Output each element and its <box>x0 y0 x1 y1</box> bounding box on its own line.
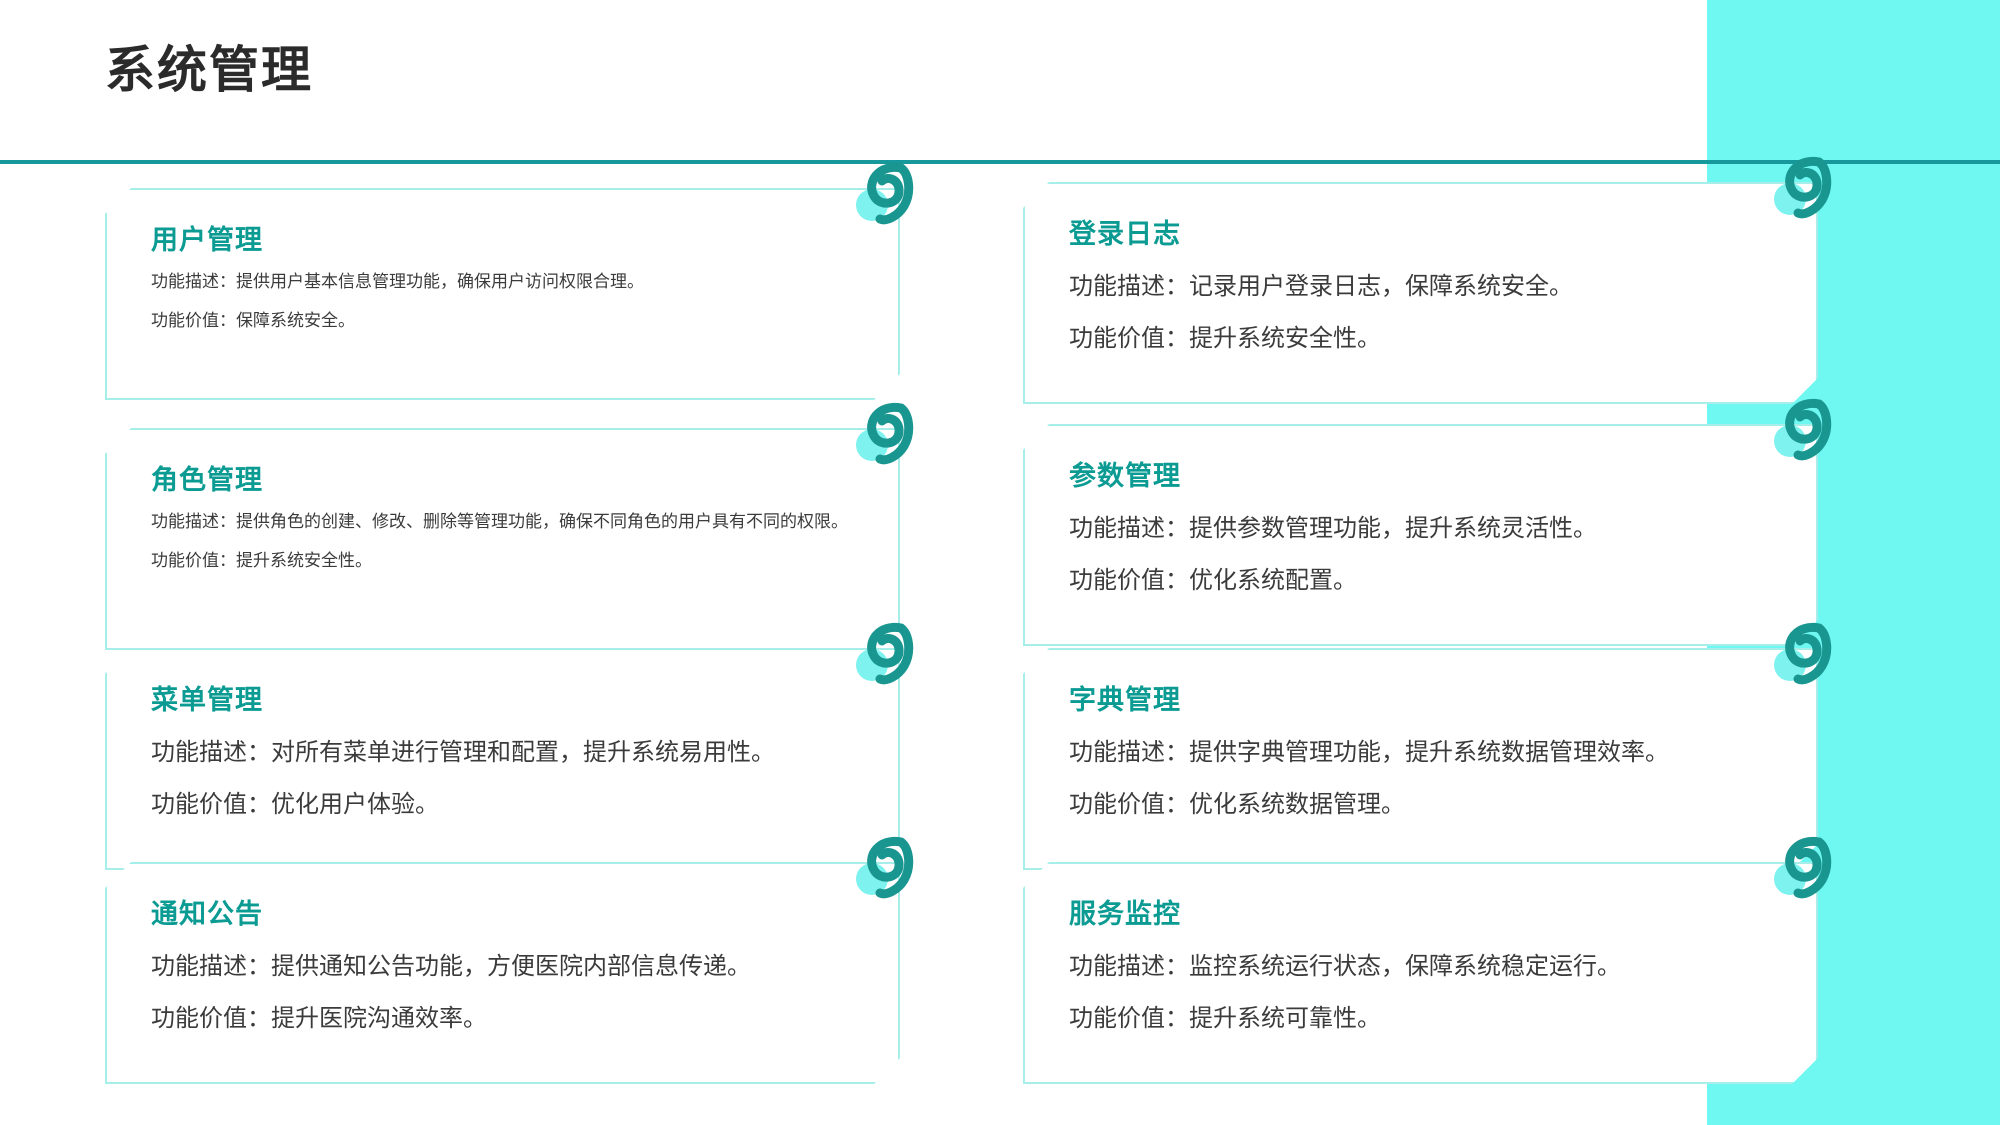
feature-card-title: 登录日志 <box>1069 218 1772 252</box>
feature-value: 功能价值：保障系统安全。 <box>151 307 854 336</box>
feature-value: 功能价值：优化系统配置。 <box>1069 560 1772 602</box>
feature-card-title: 服务监控 <box>1069 898 1772 932</box>
feature-card-parameter-management[interactable]: 参数管理功能描述：提供参数管理功能，提升系统灵活性。功能价值：优化系统配置。 <box>1023 424 1818 646</box>
feature-value: 功能价值：提升医院沟通效率。 <box>151 998 854 1040</box>
slide-canvas: 系统管理 用户管理功能描述：提供用户基本信息管理功能，确保用户访问权限合理。功能… <box>0 0 2000 1125</box>
feature-description: 功能描述：对所有菜单进行管理和配置，提升系统易用性。 <box>151 732 854 774</box>
feature-card-body: 服务监控功能描述：监控系统运行状态，保障系统稳定运行。功能价值：提升系统可靠性。 <box>1025 864 1816 1082</box>
feature-description: 功能描述：提供参数管理功能，提升系统灵活性。 <box>1069 508 1772 550</box>
feature-card-body: 通知公告功能描述：提供通知公告功能，方便医院内部信息传递。功能价值：提升医院沟通… <box>107 864 898 1082</box>
feature-card-user-management[interactable]: 用户管理功能描述：提供用户基本信息管理功能，确保用户访问权限合理。功能价值：保障… <box>105 188 900 400</box>
feature-card-body: 角色管理功能描述：提供角色的创建、修改、删除等管理功能，确保不同角色的用户具有不… <box>107 430 898 648</box>
feature-value: 功能价值：提升系统安全性。 <box>1069 318 1772 360</box>
feature-description: 功能描述：提供字典管理功能，提升系统数据管理效率。 <box>1069 732 1772 774</box>
feature-description: 功能描述：记录用户登录日志，保障系统安全。 <box>1069 266 1772 308</box>
feature-description: 功能描述：提供用户基本信息管理功能，确保用户访问权限合理。 <box>151 268 854 297</box>
feature-card-title: 参数管理 <box>1069 460 1772 494</box>
feature-card-service-monitor[interactable]: 服务监控功能描述：监控系统运行状态，保障系统稳定运行。功能价值：提升系统可靠性。 <box>1023 862 1818 1084</box>
feature-value: 功能价值：提升系统安全性。 <box>151 547 854 576</box>
feature-description: 功能描述：提供通知公告功能，方便医院内部信息传递。 <box>151 946 854 988</box>
feature-card-title: 用户管理 <box>151 224 854 258</box>
feature-card-body: 登录日志功能描述：记录用户登录日志，保障系统安全。功能价值：提升系统安全性。 <box>1025 184 1816 402</box>
feature-card-notice-announcement[interactable]: 通知公告功能描述：提供通知公告功能，方便医院内部信息传递。功能价值：提升医院沟通… <box>105 862 900 1084</box>
feature-card-body: 字典管理功能描述：提供字典管理功能，提升系统数据管理效率。功能价值：优化系统数据… <box>1025 650 1816 868</box>
feature-card-grid: 用户管理功能描述：提供用户基本信息管理功能，确保用户访问权限合理。功能价值：保障… <box>0 0 2000 1125</box>
feature-card-title: 字典管理 <box>1069 684 1772 718</box>
feature-card-menu-management[interactable]: 菜单管理功能描述：对所有菜单进行管理和配置，提升系统易用性。功能价值：优化用户体… <box>105 648 900 870</box>
feature-value: 功能价值：优化系统数据管理。 <box>1069 784 1772 826</box>
feature-card-body: 用户管理功能描述：提供用户基本信息管理功能，确保用户访问权限合理。功能价值：保障… <box>107 190 898 398</box>
feature-card-title: 菜单管理 <box>151 684 854 718</box>
feature-card-body: 菜单管理功能描述：对所有菜单进行管理和配置，提升系统易用性。功能价值：优化用户体… <box>107 650 898 868</box>
feature-description: 功能描述：监控系统运行状态，保障系统稳定运行。 <box>1069 946 1772 988</box>
feature-card-title: 通知公告 <box>151 898 854 932</box>
feature-card-role-management[interactable]: 角色管理功能描述：提供角色的创建、修改、删除等管理功能，确保不同角色的用户具有不… <box>105 428 900 650</box>
feature-card-dictionary-management[interactable]: 字典管理功能描述：提供字典管理功能，提升系统数据管理效率。功能价值：优化系统数据… <box>1023 648 1818 870</box>
feature-description: 功能描述：提供角色的创建、修改、删除等管理功能，确保不同角色的用户具有不同的权限… <box>151 508 854 537</box>
feature-card-title: 角色管理 <box>151 464 854 498</box>
feature-value: 功能价值：提升系统可靠性。 <box>1069 998 1772 1040</box>
feature-card-body: 参数管理功能描述：提供参数管理功能，提升系统灵活性。功能价值：优化系统配置。 <box>1025 426 1816 644</box>
feature-value: 功能价值：优化用户体验。 <box>151 784 854 826</box>
feature-card-login-log[interactable]: 登录日志功能描述：记录用户登录日志，保障系统安全。功能价值：提升系统安全性。 <box>1023 182 1818 404</box>
